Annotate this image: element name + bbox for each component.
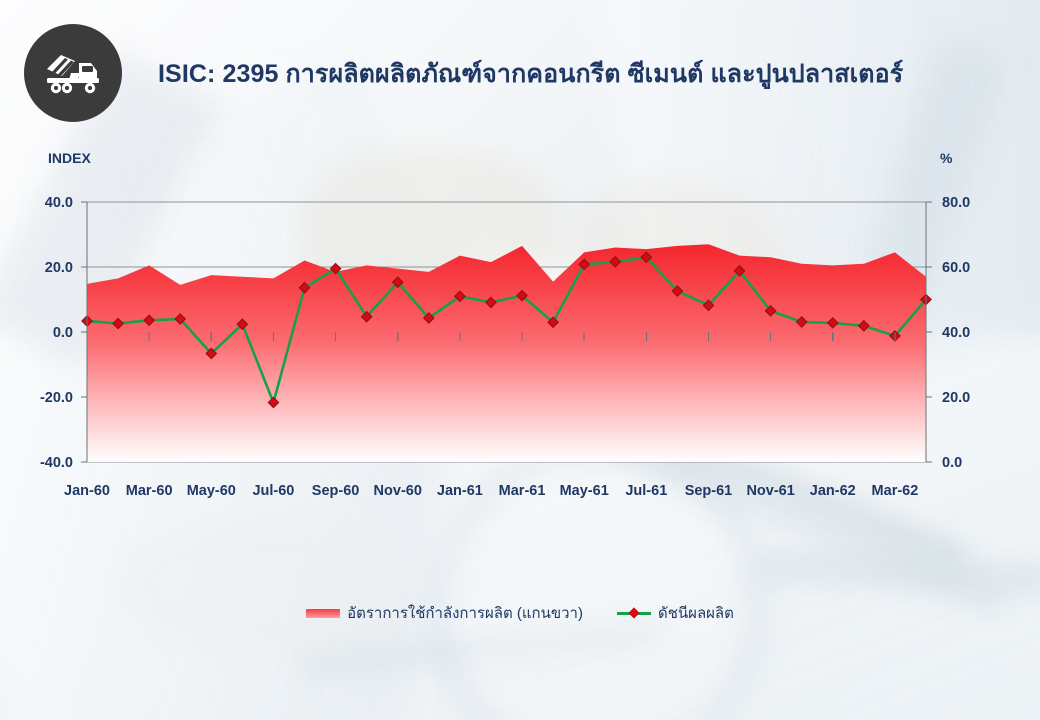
chart-legend: อัตราการใช้กำลังการผลิต (แกนขวา) ดัชนีผล…	[0, 598, 1040, 628]
svg-text:Sep-60: Sep-60	[312, 483, 360, 499]
svg-text:-20.0: -20.0	[40, 390, 73, 406]
svg-text:May-61: May-61	[560, 483, 609, 499]
svg-text:40.0: 40.0	[45, 195, 73, 211]
chart-svg: 40.020.00.0-20.0-40.0 80.060.040.020.00.…	[0, 0, 1040, 560]
left-axis-tick-labels: 40.020.00.0-20.0-40.0	[40, 195, 73, 471]
legend-swatch-line-icon	[617, 608, 651, 618]
svg-text:Jan-61: Jan-61	[437, 483, 483, 499]
svg-text:Sep-61: Sep-61	[685, 483, 733, 499]
svg-text:Jan-60: Jan-60	[64, 483, 110, 499]
svg-text:Jul-60: Jul-60	[252, 483, 294, 499]
svg-text:Nov-60: Nov-60	[374, 483, 422, 499]
svg-text:Jul-61: Jul-61	[625, 483, 667, 499]
svg-text:0.0: 0.0	[942, 455, 962, 471]
svg-text:20.0: 20.0	[942, 390, 970, 406]
legend-label-production-index: ดัชนีผลผลิต	[658, 601, 734, 625]
svg-text:Jan-62: Jan-62	[810, 483, 856, 499]
legend-swatch-area-icon	[306, 609, 340, 618]
svg-text:60.0: 60.0	[942, 260, 970, 276]
x-axis-tick-labels: Jan-60Mar-60May-60Jul-60Sep-60Nov-60Jan-…	[64, 483, 918, 499]
svg-text:Mar-62: Mar-62	[872, 483, 919, 499]
legend-label-capacity-utilization: อัตราการใช้กำลังการผลิต (แกนขวา)	[347, 601, 583, 625]
svg-text:Nov-61: Nov-61	[746, 483, 794, 499]
svg-text:40.0: 40.0	[942, 325, 970, 341]
svg-text:Mar-61: Mar-61	[499, 483, 546, 499]
legend-item-capacity-utilization[interactable]: อัตราการใช้กำลังการผลิต (แกนขวา)	[306, 601, 583, 625]
svg-text:May-60: May-60	[187, 483, 236, 499]
svg-text:20.0: 20.0	[45, 260, 73, 276]
legend-item-production-index[interactable]: ดัชนีผลผลิต	[617, 601, 734, 625]
svg-text:0.0: 0.0	[53, 325, 73, 341]
svg-text:-40.0: -40.0	[40, 455, 73, 471]
svg-text:Mar-60: Mar-60	[126, 483, 173, 499]
svg-text:80.0: 80.0	[942, 195, 970, 211]
right-axis-tick-labels: 80.060.040.020.00.0	[942, 195, 970, 471]
